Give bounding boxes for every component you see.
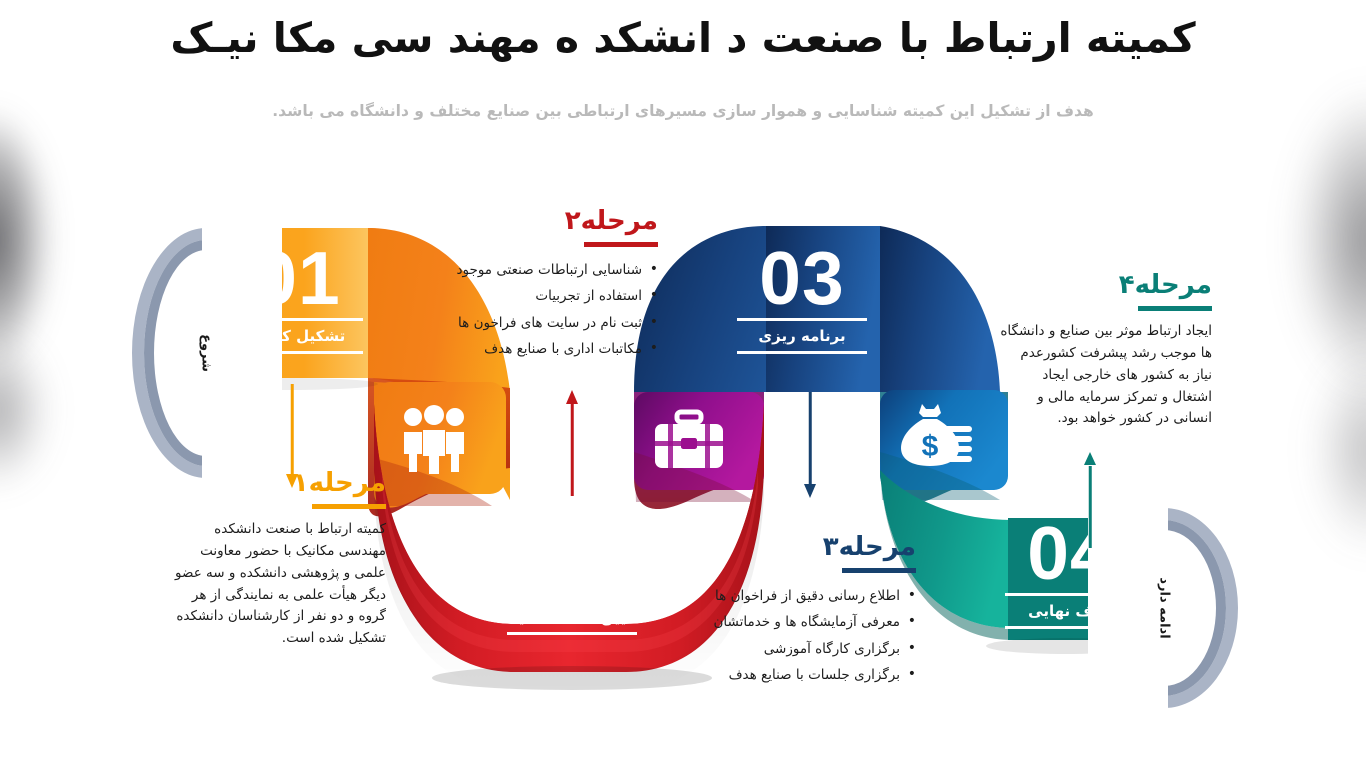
stage-number: 04 <box>990 518 1150 589</box>
arrow-down-icon-blue <box>802 392 818 500</box>
stage-caption: تشکیل کمیته <box>218 321 378 351</box>
stage-card-01[interactable]: 01 تشکیل کمیته <box>218 243 378 354</box>
list-item: برگزاری جلسات با صنایع هدف <box>706 662 916 688</box>
stage-number: 02 <box>492 524 652 595</box>
list-item: اطلاع رسانی دقیق از فراخوان ها <box>706 583 916 609</box>
step-heading: مرحله۲ <box>565 208 658 234</box>
step-heading: مرحله۱ <box>293 470 386 496</box>
arrow-up-icon-red <box>564 390 580 496</box>
arrow-up-icon-teal <box>1082 452 1098 548</box>
end-label: ادامه دارد <box>1157 577 1172 638</box>
step-heading-underline <box>842 568 916 573</box>
arrow-head <box>1084 452 1096 465</box>
arrow-shaft <box>809 392 812 486</box>
stage-caption: برنامه ریزی <box>722 321 882 351</box>
stage-caption: هدف نهایی <box>990 596 1150 626</box>
start-label: شروع <box>199 334 214 372</box>
step-body-text: کمیته ارتباط با صنعت دانشکده مهندسی مکان… <box>168 519 386 650</box>
step-block-1: مرحله۱ کمیته ارتباط با صنعت دانشکده مهند… <box>168 470 386 650</box>
step-heading: مرحله۴ <box>1119 272 1212 298</box>
people-group-icon <box>398 404 470 474</box>
caption-rules: برنامه ریزی <box>722 318 882 354</box>
caption-rules: تعیین اهداف کمیته <box>492 599 652 635</box>
rule-bottom <box>737 351 867 354</box>
list-item: شناسایی ارتباطات صنعتی موجود <box>452 257 658 283</box>
caption-rules: هدف نهایی <box>990 593 1150 629</box>
stage-number: 01 <box>218 243 378 314</box>
list-item: معرفی آزمایشگاه ها و خدماتشان <box>706 609 916 635</box>
arrow-head <box>804 484 816 498</box>
briefcase-icon <box>652 408 726 474</box>
step-heading-underline <box>1138 306 1212 311</box>
slide-canvas: کمیته ارتباط با صنعت د انشکد ه مهند سی م… <box>0 0 1366 768</box>
list-item: برگزاری کارگاه آموزشی <box>706 636 916 662</box>
step-body-text: ایجاد ارتباط موثر بین صنایع و دانشگاه ها… <box>1000 321 1212 430</box>
step-bullet-list: شناسایی ارتباطات صنعتی موجود استفاده از … <box>452 257 658 362</box>
stage-card-03[interactable]: 03 برنامه ریزی <box>722 243 882 354</box>
step-bullet-list: اطلاع رسانی دقیق از فراخوان ها معرفی آزم… <box>706 583 916 688</box>
step-block-4: مرحله۴ ایجاد ارتباط موثر بین صنایع و دان… <box>1000 272 1212 430</box>
step-heading-underline <box>312 504 386 509</box>
arrow-shaft <box>571 404 574 496</box>
list-item: ثبت نام در سایت های فراخون ها <box>452 310 658 336</box>
step-heading-underline <box>584 242 658 247</box>
arrow-shaft <box>291 384 294 476</box>
step-heading: مرحله۳ <box>823 534 916 560</box>
rule-bottom <box>233 351 363 354</box>
stage-caption: تعیین اهداف کمیته <box>492 602 652 632</box>
arrow-head <box>566 390 578 404</box>
rule-bottom <box>507 632 637 635</box>
stage-card-04[interactable]: 04 هدف نهایی <box>990 518 1150 629</box>
arrow-shaft <box>1089 466 1092 548</box>
list-item: مکاتبات اداری با صنایع هدف <box>452 336 658 362</box>
caption-rules: تشکیل کمیته <box>218 318 378 354</box>
step-block-2: مرحله۲ شناسایی ارتباطات صنعتی موجود استف… <box>452 208 658 362</box>
money-bag-icon: $ <box>898 398 974 470</box>
rule-bottom <box>1005 626 1135 629</box>
stage-number: 03 <box>722 243 882 314</box>
stage-card-02[interactable]: 02 تعیین اهداف کمیته <box>492 524 652 635</box>
list-item: استفاده از تجربیات <box>452 283 658 309</box>
step-block-3: مرحله۳ اطلاع رسانی دقیق از فراخوان ها مع… <box>706 534 916 688</box>
svg-text:$: $ <box>922 430 939 463</box>
